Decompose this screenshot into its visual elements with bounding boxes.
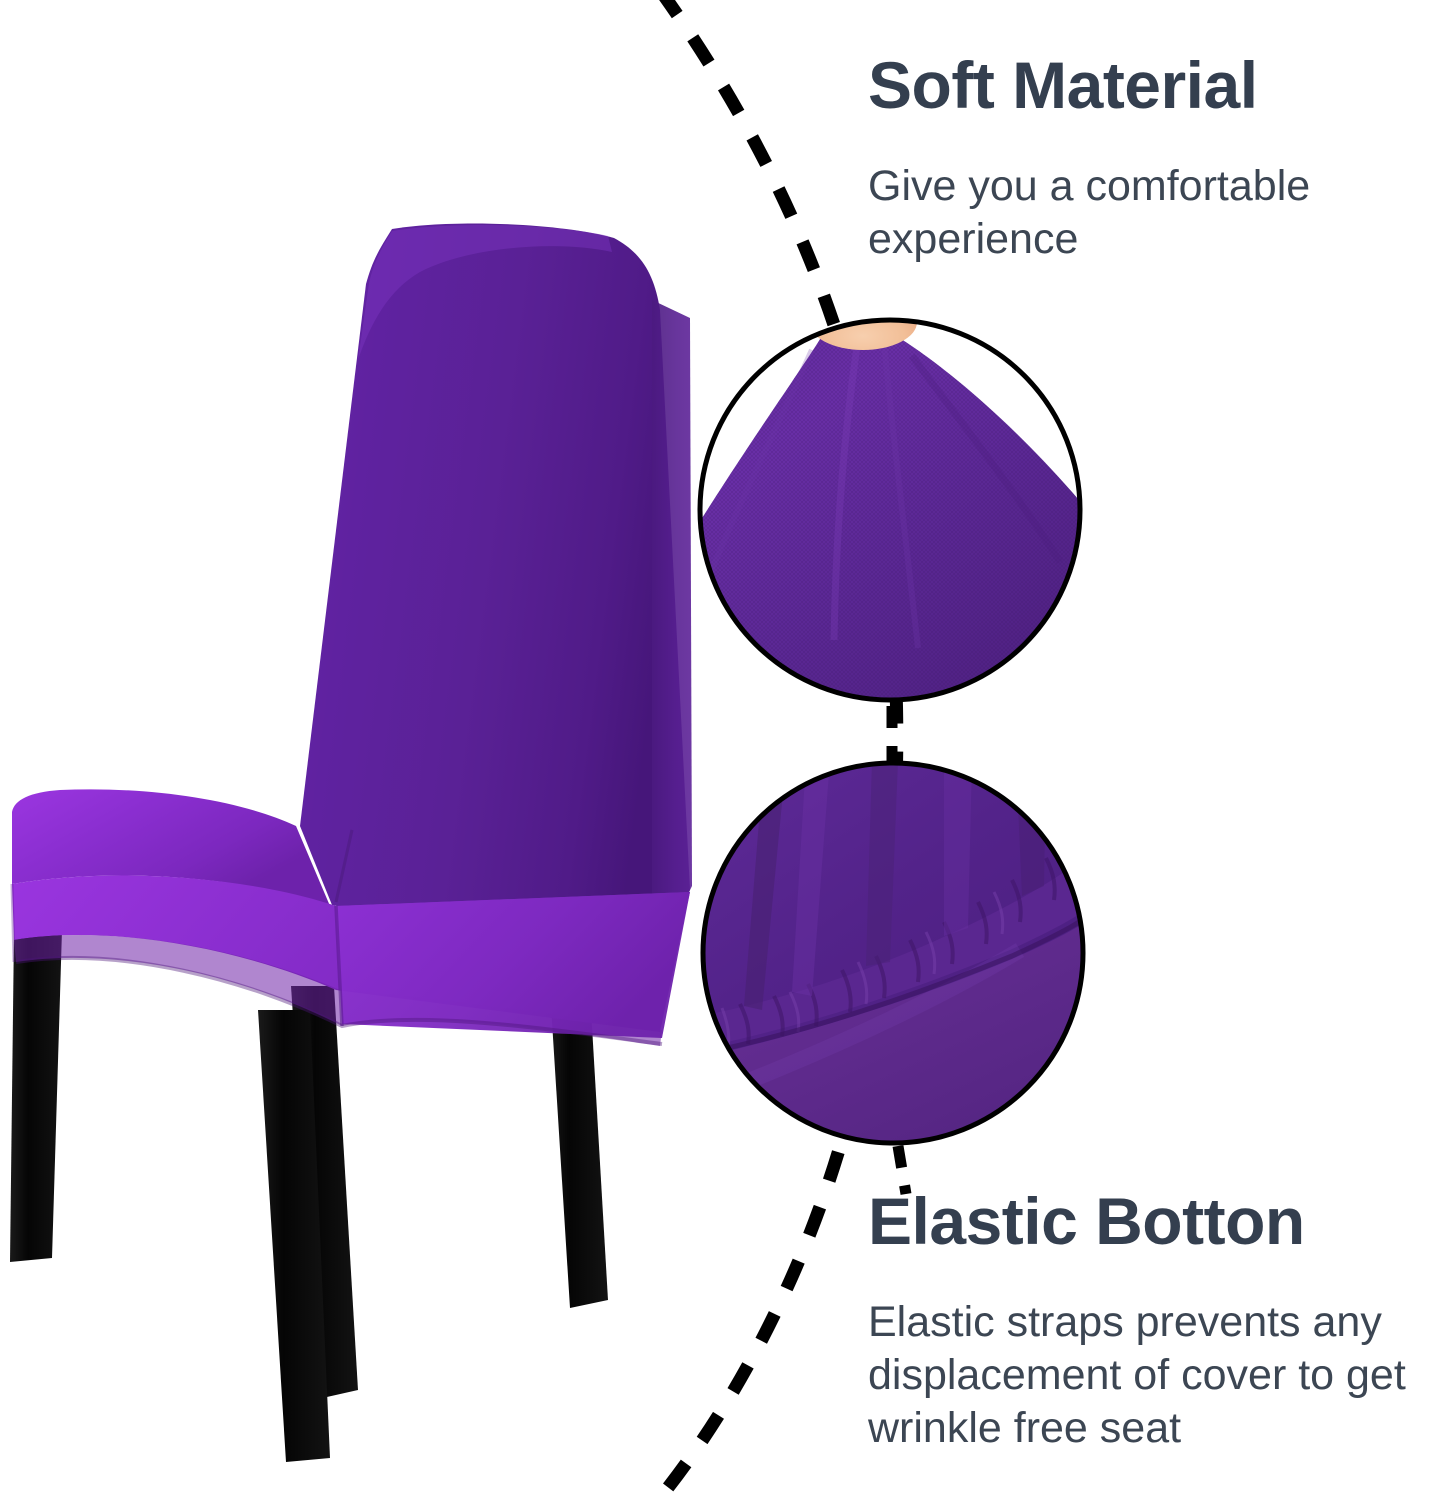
soft-material-title: Soft Material	[868, 52, 1258, 118]
elastic-botton-description: Elastic straps prevents any displacement…	[868, 1296, 1438, 1455]
chair-back-side-face	[652, 300, 692, 968]
chair-skirt-left-edge	[12, 884, 14, 962]
product-infographic: Soft Material Give you a comfortable exp…	[0, 0, 1438, 1500]
elastic-botton-title: Elastic Botton	[868, 1188, 1305, 1254]
soft-material-description: Give you a comfortable experience	[868, 160, 1408, 266]
chair-skirt-right-panel	[336, 892, 690, 1038]
